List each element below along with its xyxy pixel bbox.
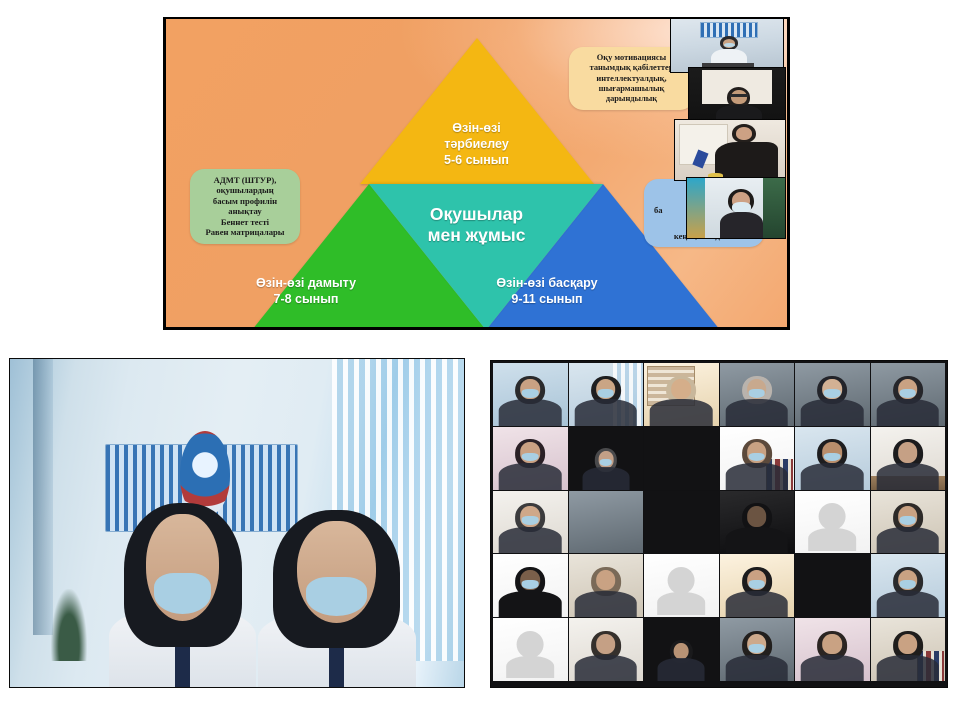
participant-torso (801, 463, 864, 489)
participant-face-mask (899, 389, 916, 398)
callout-blue-line1: ба (650, 205, 663, 215)
gallery-tile[interactable] (871, 491, 946, 554)
participant-face-mask (899, 516, 916, 525)
participant-torso (725, 463, 788, 489)
participant-face-mask (824, 453, 841, 462)
participant-torso (876, 655, 939, 681)
gallery-tile-background (644, 491, 719, 554)
participant-face (898, 634, 918, 654)
participant-torso (801, 655, 864, 681)
participant-torso (725, 399, 788, 425)
participant-torso (876, 527, 939, 553)
participant-torso (574, 591, 637, 617)
participant-torso (650, 399, 713, 425)
participant-face-mask (899, 580, 916, 589)
participant-face-mask (748, 644, 765, 653)
gallery-tile[interactable] (795, 363, 870, 426)
callout-green-left: АДМТ (ШТУР), оқушылардың басым профилін … (190, 169, 300, 244)
participant-torso (574, 655, 637, 681)
participant-torso (725, 591, 788, 617)
gallery-tile[interactable] (795, 554, 870, 617)
participant-face (596, 570, 616, 590)
gallery-tile[interactable] (720, 363, 795, 426)
pyramid-segment-center (369, 184, 603, 327)
gallery-tile[interactable] (871, 363, 946, 426)
gallery-tile[interactable] (644, 427, 719, 490)
participant-face-mask (522, 516, 539, 525)
avatar-placeholder-body (808, 528, 856, 551)
participant-torso (499, 527, 562, 553)
participant-face (671, 379, 691, 399)
callout-green-line4: анықтау (198, 206, 292, 216)
gallery-tile[interactable] (493, 427, 568, 490)
participant-face-mask (748, 580, 765, 589)
participant-torso (499, 463, 562, 489)
gallery-tile[interactable] (569, 491, 644, 554)
gallery-tile[interactable] (795, 618, 870, 681)
participant-torso (876, 399, 939, 425)
avatar-placeholder-body (657, 592, 705, 615)
gallery-tile[interactable] (493, 363, 568, 426)
participant-torso (725, 527, 788, 553)
participant-face-mask (522, 580, 539, 589)
presenter-thumbnail-strip (668, 19, 787, 257)
gallery-tile[interactable] (569, 363, 644, 426)
gallery-tile[interactable] (795, 427, 870, 490)
callout-green-line1: АДМТ (ШТУР), (198, 175, 292, 185)
gallery-tile[interactable] (569, 427, 644, 490)
gallery-tile[interactable] (569, 554, 644, 617)
participant-face-mask (522, 389, 539, 398)
gallery-tile[interactable] (644, 618, 719, 681)
screenshot-stage: Өзін-өзі тәрбиелеу 5-6 сынып Оқушылар ме… (0, 0, 960, 720)
participant-torso (582, 467, 629, 490)
gallery-grid (493, 363, 945, 681)
participant-face-mask (597, 389, 614, 398)
webcam-thumbnail-woman-with-child[interactable] (674, 119, 786, 181)
participant-face (674, 643, 689, 660)
avatar-placeholder-body (506, 656, 554, 679)
participant-face-mask (522, 453, 539, 462)
callout-green-line6: Равен матрицалары (198, 227, 292, 237)
callout-green-line3: басым профилін (198, 196, 292, 206)
gallery-tile[interactable] (795, 491, 870, 554)
participant-torso (876, 591, 939, 617)
gallery-tile[interactable] (720, 554, 795, 617)
gallery-tile[interactable] (871, 554, 946, 617)
presenter-right (273, 510, 400, 687)
avatar-placeholder-icon (668, 567, 695, 594)
gallery-tile[interactable] (493, 554, 568, 617)
callout-green-line5: Беннет тесті (198, 217, 292, 227)
gallery-tile[interactable] (720, 427, 795, 490)
participant-torso (658, 658, 705, 681)
participant-face-mask (748, 453, 765, 462)
gallery-tile[interactable] (493, 491, 568, 554)
gallery-tile[interactable] (871, 618, 946, 681)
gallery-tile[interactable] (569, 618, 644, 681)
two-presenters-video[interactable] (9, 358, 465, 688)
participant-torso (499, 591, 562, 617)
pyramid-segment-top (360, 38, 594, 184)
gallery-tile-background (644, 427, 719, 490)
gallery-tile[interactable] (493, 618, 568, 681)
gallery-tile[interactable] (720, 618, 795, 681)
webcam-thumbnail-speaker-at-podium[interactable] (670, 19, 784, 73)
gallery-tile[interactable] (644, 491, 719, 554)
slide-canvas: Өзін-өзі тәрбиелеу 5-6 сынып Оқушылар ме… (166, 19, 787, 327)
gallery-tile[interactable] (644, 554, 719, 617)
gallery-tile-background (569, 491, 644, 554)
webcam-thumbnail-woman-in-mask-at-desk[interactable] (686, 177, 786, 239)
participant-face (596, 634, 616, 654)
presenter-left (124, 503, 242, 687)
participant-torso (725, 655, 788, 681)
participant-face (822, 634, 842, 654)
pyramid-diagram-slide: Өзін-өзі тәрбиелеу 5-6 сынып Оқушылар ме… (163, 17, 790, 330)
gallery-tile[interactable] (871, 427, 946, 490)
participant-torso (574, 399, 637, 425)
participant-face-mask (599, 459, 612, 466)
participant-torso (499, 399, 562, 425)
avatar-placeholder-icon (819, 503, 846, 530)
avatar-placeholder-icon (517, 631, 544, 658)
participant-torso (801, 399, 864, 425)
presenter-left-face-mask (154, 573, 211, 613)
gallery-tile[interactable] (720, 491, 795, 554)
participant-face-mask (748, 389, 765, 398)
callout-green-line2: оқушылардың (198, 185, 292, 195)
gallery-tile-background (795, 554, 870, 617)
potted-plant (51, 589, 87, 661)
participant-face-mask (824, 389, 841, 398)
participant-face (747, 506, 767, 526)
participant-face (898, 442, 918, 462)
gallery-tile[interactable] (644, 363, 719, 426)
participant-torso (876, 463, 939, 489)
zoom-gallery-view[interactable] (490, 360, 948, 688)
